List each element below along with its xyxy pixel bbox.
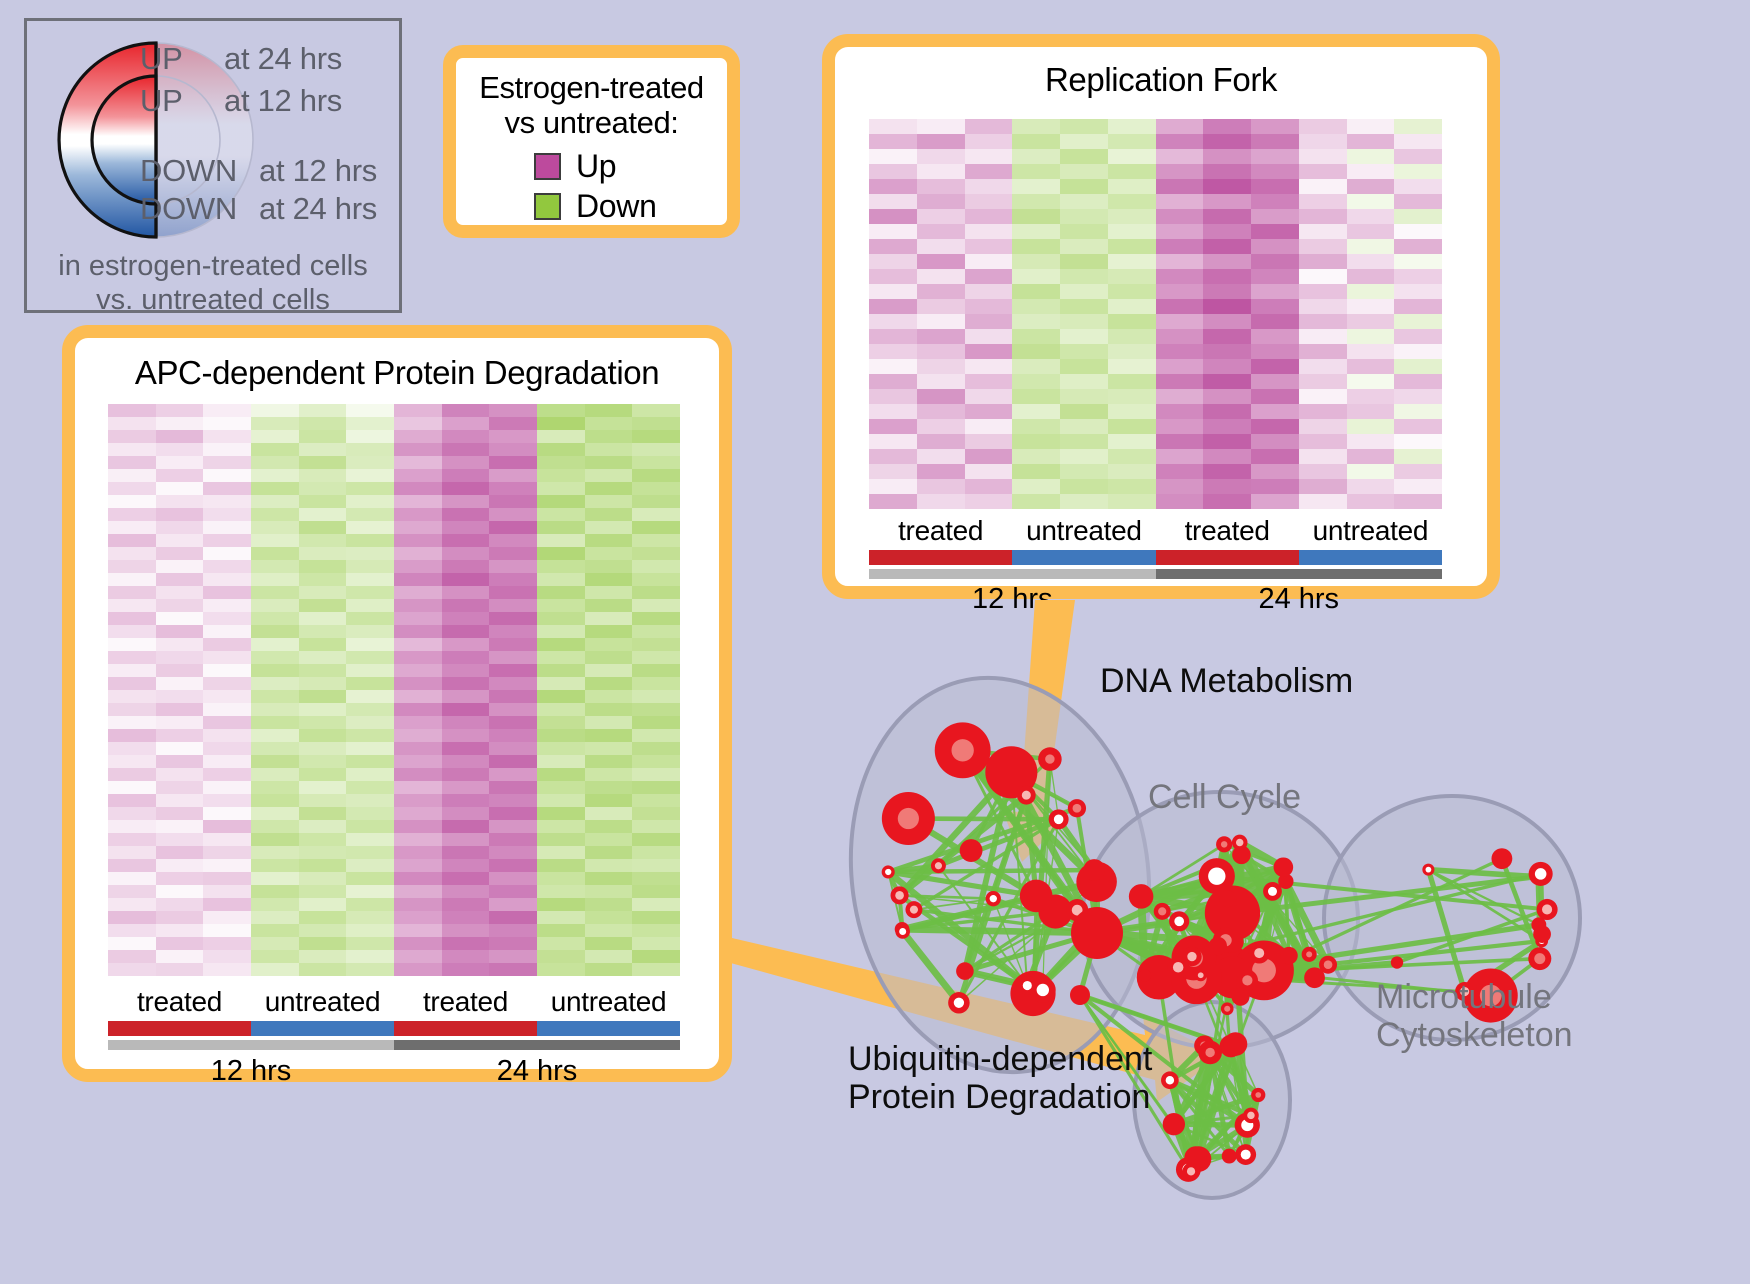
network-node	[1071, 907, 1123, 959]
cluster-label-microtubule-cytoskeleton: Microtubule Cytoskeleton	[1376, 978, 1573, 1054]
network-node-core	[1426, 867, 1432, 873]
network-node-core	[1187, 1167, 1195, 1175]
network-node	[1304, 967, 1325, 988]
cluster-label-ubiquitin-degradation: Ubiquitin-dependent Protein Degradation	[848, 1040, 1152, 1116]
network-node	[1224, 1032, 1248, 1056]
network-node-core	[1236, 839, 1243, 846]
network-node-core	[1221, 841, 1227, 847]
cluster-label-line1: Microtubule	[1376, 978, 1573, 1016]
network-node-core	[910, 906, 918, 914]
network-node-core	[935, 862, 942, 869]
network-node	[1083, 859, 1105, 881]
network-node-core	[1247, 1112, 1254, 1119]
network-node	[960, 839, 983, 862]
network-node-core	[1023, 981, 1032, 990]
network-node-core	[1187, 952, 1196, 961]
network-node-core	[1542, 904, 1552, 914]
network-node-core	[951, 739, 973, 761]
cluster-label-dna-metabolism: DNA Metabolism	[1100, 662, 1353, 700]
network-node-core	[1324, 960, 1333, 969]
network-node	[956, 962, 974, 980]
network-node	[1139, 969, 1151, 981]
network-node-core	[899, 928, 906, 935]
network-node-core	[1268, 887, 1277, 896]
network-node-core	[1254, 948, 1264, 958]
network-node	[1533, 925, 1551, 943]
network-node-core	[1241, 1150, 1251, 1160]
network-node-core	[1173, 962, 1184, 973]
network-node-core	[1045, 754, 1054, 763]
network-node-core	[1022, 791, 1031, 800]
cluster-label-line2: Protein Degradation	[848, 1078, 1152, 1116]
network-node-core	[954, 998, 964, 1008]
network-node	[1391, 956, 1403, 968]
network-node-core	[898, 808, 919, 829]
figure-canvas: UP at 24 hrs UP at 12 hrs DOWN at 12 hrs…	[0, 0, 1750, 1279]
network-node-core	[1255, 1092, 1261, 1098]
network-node-core	[1166, 1076, 1174, 1084]
cluster-label-cell-cycle: Cell Cycle	[1148, 778, 1301, 816]
network-node-core	[895, 891, 904, 900]
network-edge	[902, 929, 1097, 933]
network-node-core	[1535, 868, 1547, 880]
network-svg	[780, 600, 1750, 1279]
network-node	[1163, 1113, 1185, 1135]
network-node	[1274, 857, 1294, 877]
network-node-core	[1174, 916, 1184, 926]
network-node-core	[1534, 953, 1545, 964]
network-node-core	[1205, 1048, 1214, 1057]
network-node	[1222, 1149, 1237, 1164]
pathway-network-diagram: DNA Metabolism Cell Cycle Microtubule Cy…	[780, 600, 1750, 1279]
network-node	[1070, 985, 1090, 1005]
network-node	[1209, 937, 1227, 955]
network-node	[1491, 848, 1512, 869]
network-node-core	[1242, 975, 1252, 985]
network-node-core	[1073, 804, 1082, 813]
network-node-core	[1208, 867, 1225, 884]
network-node	[1219, 890, 1236, 907]
network-node	[1020, 880, 1053, 913]
network-node-core	[885, 869, 891, 875]
network-node-core	[1198, 972, 1204, 978]
cluster-label-line2: Cytoskeleton	[1376, 1016, 1573, 1054]
network-node	[1129, 884, 1154, 909]
cluster-label-line1: Ubiquitin-dependent	[848, 1040, 1152, 1078]
network-node-core	[1037, 984, 1049, 996]
network-node-core	[1306, 951, 1312, 957]
network-node-core	[1158, 907, 1166, 915]
network-node-core	[990, 895, 997, 902]
network-node	[1280, 947, 1298, 965]
network-node-core	[1224, 1006, 1230, 1012]
network-node-core	[1054, 815, 1064, 825]
